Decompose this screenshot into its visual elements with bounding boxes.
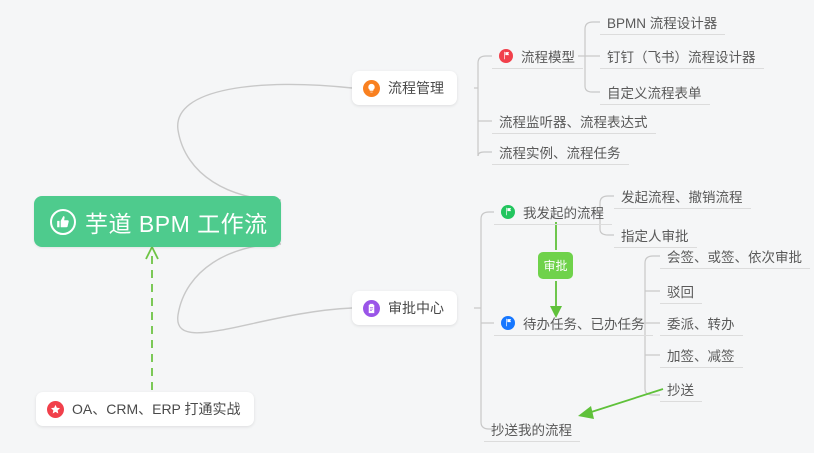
- leaf-node-start-cancel[interactable]: 发起流程、撤销流程: [614, 183, 751, 209]
- branch-node-process-management[interactable]: 流程管理: [352, 71, 457, 105]
- leaf-label: BPMN 流程设计器: [607, 12, 717, 32]
- leaf-label: 会签、或签、依次审批: [667, 246, 802, 266]
- leaf-node-reject[interactable]: 驳回: [660, 278, 702, 304]
- leaf-label: 流程模型: [521, 46, 575, 66]
- mindmap-canvas: 芋道 BPM 工作流 OA、CRM、ERP 打通实战 流程管理 流程模型 BPM…: [0, 0, 814, 453]
- leaf-node-countersign[interactable]: 会签、或签、依次审批: [660, 243, 810, 269]
- wire-green-copy: [585, 389, 663, 414]
- leaf-node-todo-done-tasks[interactable]: 待办任务、已办任务: [494, 310, 653, 336]
- root-label: 芋道 BPM 工作流: [85, 205, 268, 239]
- flag-icon: [501, 316, 515, 330]
- relation-chip-approval[interactable]: 审批: [538, 252, 573, 279]
- clipboard-icon: [363, 300, 380, 317]
- leaf-label: 我发起的流程: [523, 202, 604, 222]
- wire-branch1-to-child1: [478, 56, 492, 63]
- leaf-node-add-remove-sign[interactable]: 加签、减签: [660, 342, 743, 368]
- wire-todo-to-child1: [645, 256, 660, 263]
- wire-root-to-branch1: [178, 84, 352, 200]
- leaf-node-delegate-transfer[interactable]: 委派、转办: [660, 310, 743, 336]
- wire-mine-to-child2: [600, 229, 614, 235]
- leaf-node-instance-task[interactable]: 流程实例、流程任务: [492, 139, 629, 165]
- branch-node-approval-center[interactable]: 审批中心: [352, 291, 457, 325]
- leaf-label: 委派、转办: [667, 313, 735, 333]
- note-node[interactable]: OA、CRM、ERP 打通实战: [36, 392, 254, 426]
- leaf-label: 抄送我的流程: [491, 419, 572, 439]
- relation-chip-label: 审批: [543, 257, 567, 274]
- leaf-node-my-initiated[interactable]: 我发起的流程: [494, 199, 612, 225]
- wire-branch1-to-child3: [478, 152, 492, 156]
- leaf-label: 自定义流程表单: [607, 82, 702, 102]
- wire-todo-to-child5: [645, 389, 660, 395]
- leaf-label: 加签、减签: [667, 345, 735, 365]
- leaf-node-dingtalk-designer[interactable]: 钉钉（飞书）流程设计器: [600, 43, 764, 69]
- flag-icon: [501, 205, 515, 219]
- leaf-node-cc[interactable]: 抄送: [660, 376, 702, 402]
- wire-root-to-branch2: [178, 244, 352, 333]
- leaf-node-custom-form[interactable]: 自定义流程表单: [600, 79, 710, 105]
- branch-label: 流程管理: [388, 78, 444, 98]
- lightbulb-icon: [363, 80, 380, 97]
- leaf-label: 待办任务、已办任务: [523, 313, 645, 333]
- leaf-label: 发起流程、撤销流程: [621, 186, 743, 206]
- arrowhead-dashed-up: [146, 247, 158, 259]
- arrowhead-green-left: [578, 406, 594, 419]
- thumbs-up-icon: [50, 209, 76, 235]
- flag-icon: [499, 49, 513, 63]
- wire-branch2-to-child1: [481, 212, 494, 219]
- leaf-label: 指定人审批: [621, 225, 689, 245]
- leaf-label: 流程实例、流程任务: [499, 142, 621, 162]
- wire-model-to-child3: [585, 86, 600, 92]
- branch-label: 审批中心: [388, 298, 444, 318]
- leaf-label: 钉钉（飞书）流程设计器: [607, 46, 756, 66]
- root-node[interactable]: 芋道 BPM 工作流: [34, 196, 281, 247]
- leaf-node-bpmn-designer[interactable]: BPMN 流程设计器: [600, 9, 725, 35]
- leaf-label: 驳回: [667, 281, 694, 301]
- leaf-label: 流程监听器、流程表达式: [499, 111, 648, 131]
- leaf-label: 抄送: [667, 379, 694, 399]
- leaf-node-process-model[interactable]: 流程模型: [492, 43, 583, 69]
- wire-model-to-child1: [585, 22, 600, 29]
- leaf-node-cc-to-me[interactable]: 抄送我的流程: [484, 416, 580, 442]
- star-icon: [47, 401, 64, 418]
- leaf-node-listener-expression[interactable]: 流程监听器、流程表达式: [492, 108, 656, 134]
- note-label: OA、CRM、ERP 打通实战: [72, 399, 241, 419]
